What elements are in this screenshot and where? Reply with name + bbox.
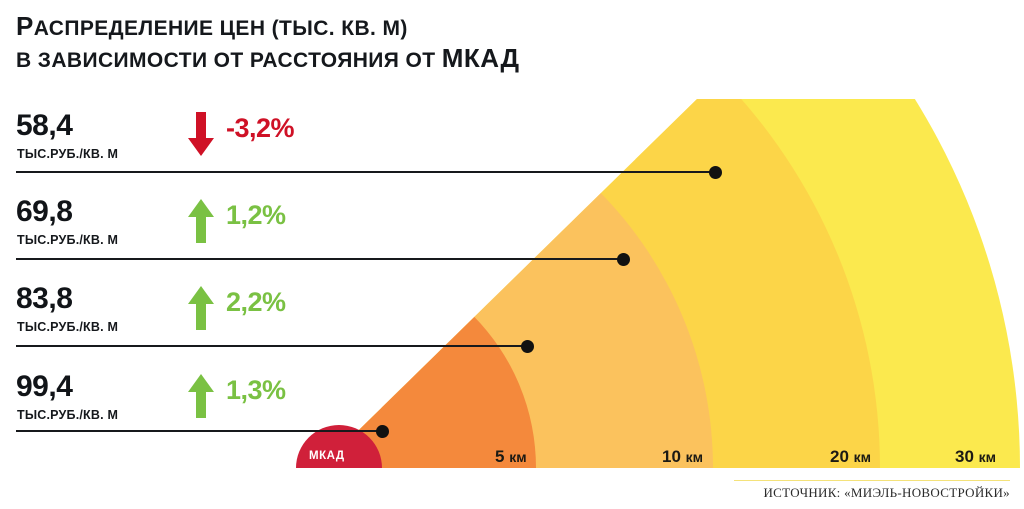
leader-dot	[709, 166, 722, 179]
band-5km	[104, 252, 536, 509]
radial-distance-fan	[0, 0, 1024, 509]
title-line-2-text: В ЗАВИСИМОСТИ ОТ РАССТОЯНИЯ ОТ	[16, 49, 442, 72]
page-title: РАСПРЕДЕЛЕНИЕ ЦЕН (ТЫС. КВ. М) В ЗАВИСИМ…	[16, 12, 716, 76]
km-label-30-num: 30	[955, 447, 974, 466]
row-value: 83,8	[16, 283, 72, 315]
row-change: 2,2%	[226, 288, 286, 316]
fan-bands	[0, 0, 1020, 509]
row-value: 99,4	[16, 371, 72, 403]
title-lead-cap: Р	[16, 11, 34, 41]
source-attribution: ИСТОЧНИК: «МИЭЛЬ-НОВОСТРОЙКИ»	[763, 485, 1010, 501]
arrow-up-icon	[188, 374, 214, 418]
title-line-1-text: АСПРЕДЕЛЕНИЕ ЦЕН (ТЫС. КВ. М)	[34, 17, 408, 40]
km-label-10-num: 10	[662, 447, 681, 466]
km-label-10-unit: км	[686, 449, 703, 465]
row-unit: ТЫС.РУБ./КВ. М	[17, 320, 118, 334]
km-label-30-unit: км	[979, 449, 996, 465]
leader-dot	[521, 340, 534, 353]
row-unit: ТЫС.РУБ./КВ. М	[17, 233, 118, 247]
arrow-down-icon	[188, 112, 214, 156]
km-label-10: 10 км	[662, 447, 703, 467]
leader-line	[16, 171, 716, 173]
km-label-30: 30 км	[955, 447, 996, 467]
title-line-2: В ЗАВИСИМОСТИ ОТ РАССТОЯНИЯ ОТ МКАД	[16, 43, 716, 76]
leader-dot	[617, 253, 630, 266]
title-mkad-emphasis: МКАД	[442, 43, 520, 73]
km-label-5-unit: км	[509, 449, 526, 465]
row-value: 69,8	[16, 196, 72, 228]
infographic-root: РАСПРЕДЕЛЕНИЕ ЦЕН (ТЫС. КВ. М) В ЗАВИСИМ…	[0, 0, 1024, 509]
leader-line	[16, 258, 624, 260]
mkad-badge-label: МКАД	[309, 450, 345, 462]
row-unit: ТЫС.РУБ./КВ. М	[17, 147, 118, 161]
leader-line	[16, 430, 383, 432]
km-label-20-num: 20	[830, 447, 849, 466]
arrow-up-icon	[188, 286, 214, 330]
km-label-20: 20 км	[830, 447, 871, 467]
row-unit: ТЫС.РУБ./КВ. М	[17, 408, 118, 422]
km-label-5-num: 5	[495, 447, 504, 466]
km-label-5: 5 км	[495, 447, 527, 467]
leader-dot	[376, 425, 389, 438]
leader-line	[16, 345, 528, 347]
source-divider	[734, 480, 1010, 481]
title-line-1: РАСПРЕДЕЛЕНИЕ ЦЕН (ТЫС. КВ. М)	[16, 12, 716, 43]
arrow-up-icon	[188, 199, 214, 243]
row-change: 1,3%	[226, 376, 286, 404]
km-label-20-unit: км	[854, 449, 871, 465]
row-change: -3,2%	[226, 114, 294, 142]
row-value: 58,4	[16, 110, 72, 142]
row-change: 1,2%	[226, 201, 286, 229]
